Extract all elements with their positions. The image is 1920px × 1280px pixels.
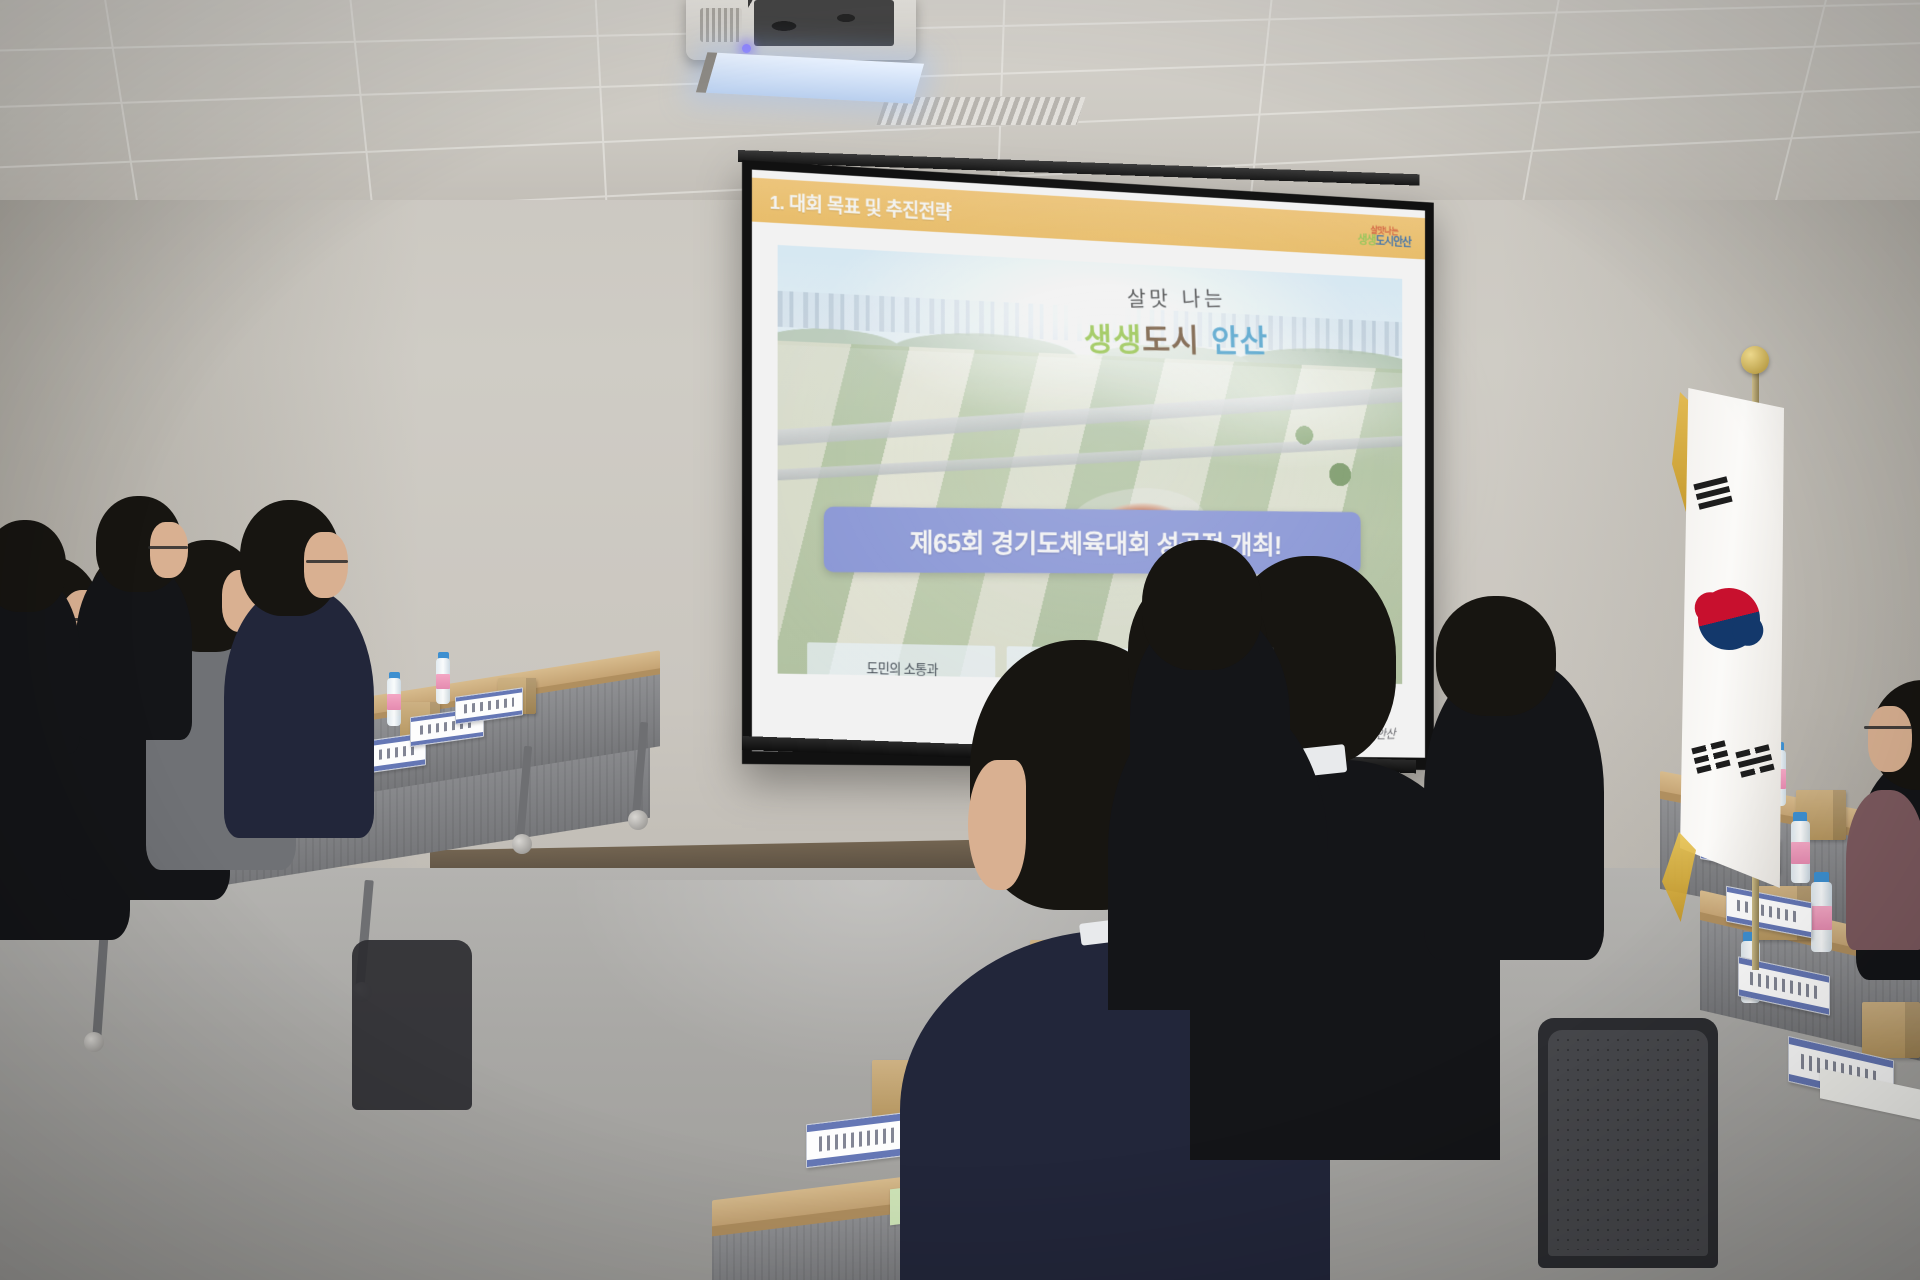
carton-r4 bbox=[1862, 1002, 1920, 1058]
tagline-line-2: 생생도시 안산 bbox=[1083, 313, 1269, 361]
chair-mesh-back bbox=[1548, 1030, 1708, 1256]
projector-power-led bbox=[742, 44, 751, 53]
strategy-box-1-top2: 만남을 통한 bbox=[811, 677, 992, 684]
tagline-blue: 안산 bbox=[1211, 322, 1269, 360]
strategy-box-1: 도민의 소통과 만남을 통한 공동체 화합과 축제의 장 bbox=[807, 642, 995, 684]
tagline-line-1: 살맛 나는 bbox=[1083, 282, 1269, 313]
chair-left-1 bbox=[352, 940, 472, 1110]
flag-trigram-bottom-right bbox=[1735, 744, 1774, 777]
ceiling-projector bbox=[686, 0, 916, 60]
korean-flag bbox=[1680, 388, 1784, 888]
strategy-box-1-top: 도민의 소통과 bbox=[811, 659, 992, 680]
projector-vent bbox=[700, 8, 742, 42]
flag-trigram-bottom-left bbox=[1691, 740, 1730, 773]
slide-header-title: 1. 대회 목표 및 추진전략 bbox=[752, 186, 951, 224]
city-logo-bottom-text: 생생도시안산 bbox=[1358, 233, 1411, 247]
flag-finial-ornament bbox=[1741, 346, 1769, 374]
tagline-brown: 도시 bbox=[1142, 321, 1201, 359]
slide-tagline: 살맛 나는 생생도시 안산 bbox=[1084, 277, 1268, 365]
ceiling bbox=[0, 0, 1920, 200]
flag-taeguk-symbol bbox=[1691, 581, 1766, 656]
tagline-green: 생생 bbox=[1084, 320, 1144, 358]
conference-room-photo: 1. 대회 목표 및 추진전략 살맛나는 생생도시안산 살맛 bbox=[0, 0, 1920, 1280]
flag-trigram-top-left bbox=[1693, 476, 1732, 509]
ansan-city-logo: 살맛나는 생생도시안산 bbox=[1358, 225, 1425, 249]
projector-cables bbox=[748, 0, 898, 48]
